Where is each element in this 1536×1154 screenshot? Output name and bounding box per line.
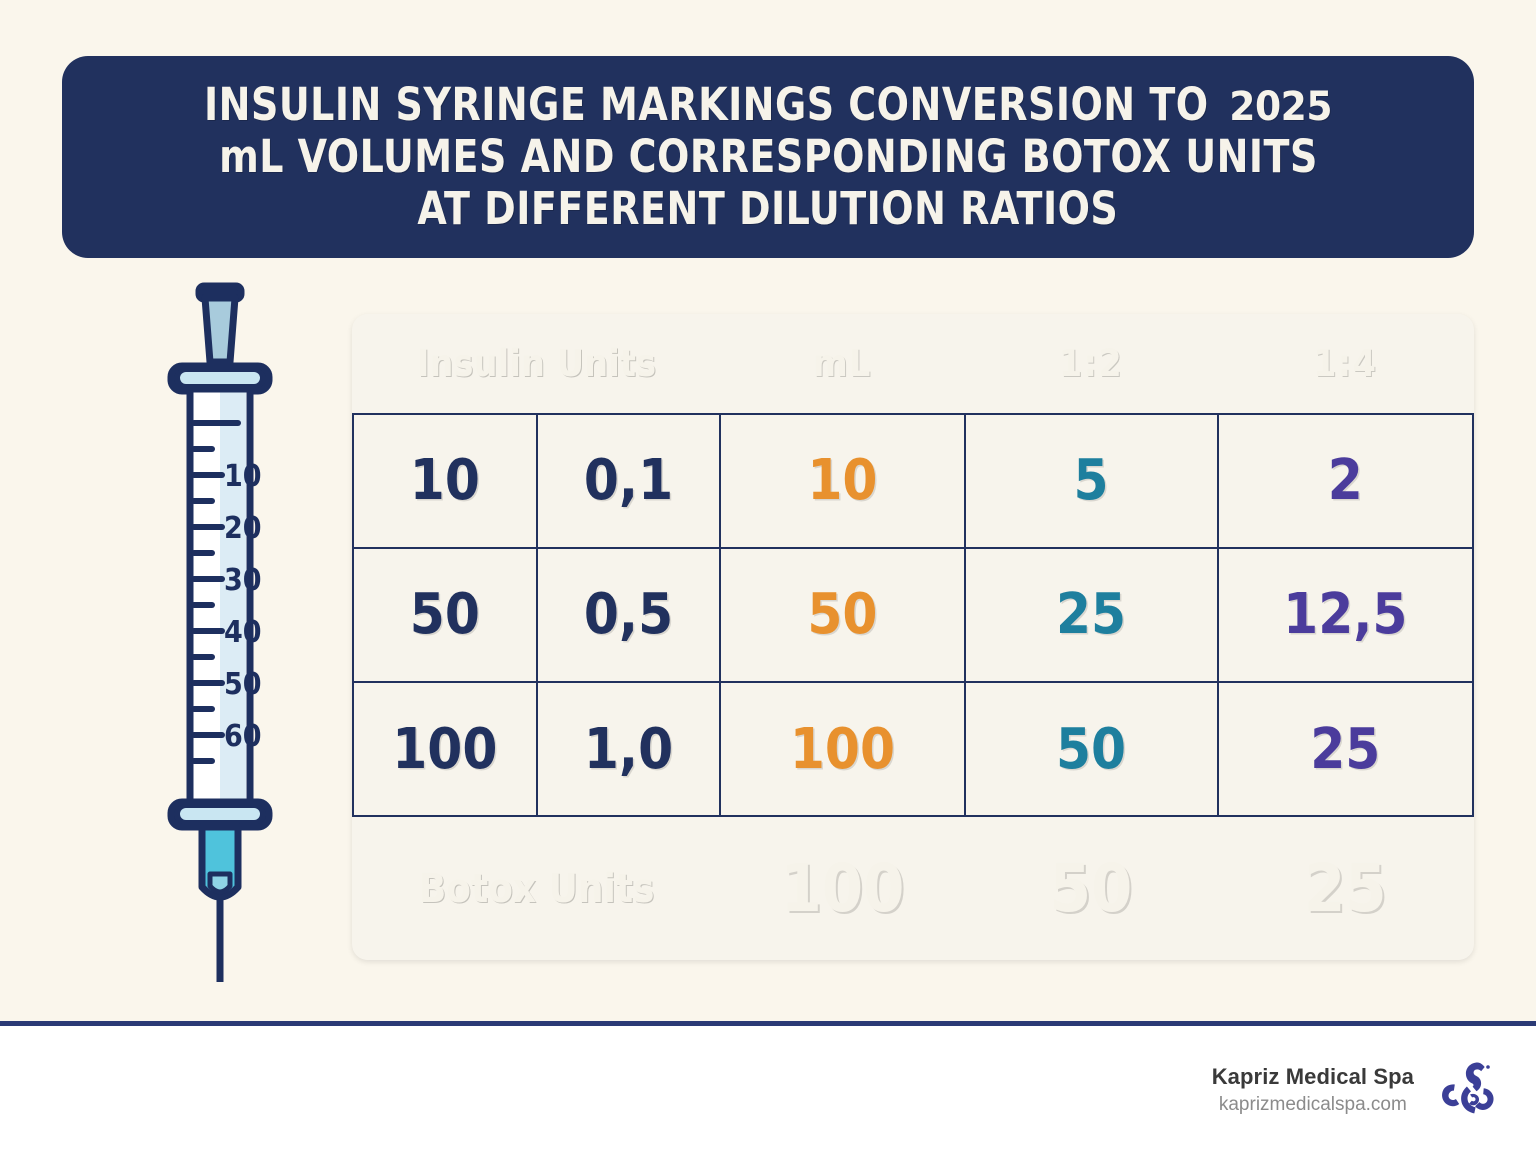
footer-value-ml: 100: [780, 850, 904, 927]
title-line-2: mL VOLUMES AND CORRESPONDING BOTOX UNITS: [219, 131, 1318, 183]
conversion-table: Insulin Units mL 1:2 1:4 10 0,1 10 5 2 5…: [352, 314, 1474, 960]
footer-value-1-4: 25: [1304, 850, 1387, 927]
title-banner: INSULIN SYRINGE MARKINGS CONVERSION TO20…: [62, 56, 1474, 258]
syringe-tick-label-40: 40: [224, 615, 262, 650]
value-ml-volume: 0,1: [584, 448, 673, 513]
header-ml-label: mL: [813, 342, 872, 385]
table-row: 100 1,0 100 50 25: [353, 682, 1473, 816]
table-footer-row: Botox Units 100 50 25: [353, 816, 1473, 960]
cell-ml-volume: 0,5: [537, 548, 721, 682]
syringe-tick-label-20: 20: [224, 511, 262, 546]
cell-dilution-1-4: 2: [1218, 414, 1473, 548]
syringe-illustration: 10 20 30 40 50 60: [150, 282, 290, 982]
value-dilution-1-2: 25: [1056, 582, 1126, 647]
header-ratio-1-2-label: 1:2: [1059, 342, 1123, 385]
kapriz-logo-icon: [1436, 1058, 1500, 1122]
cell-ml-units: 100: [720, 682, 964, 816]
title-year: 2025: [1229, 84, 1332, 130]
cell-dilution-1-4: 25: [1218, 682, 1473, 816]
syringe-tick-label-30: 30: [224, 563, 262, 598]
cell-ml-units: 50: [720, 548, 964, 682]
cell-ml-units: 10: [720, 414, 964, 548]
footer-text-block: Kapriz Medical Spa kaprizmedicalspa.com: [1212, 1062, 1414, 1117]
value-dilution-1-4: 2: [1328, 448, 1363, 513]
brand-website: kaprizmedicalspa.com: [1212, 1092, 1414, 1118]
value-units: 50: [410, 582, 480, 647]
cell-dilution-1-2: 25: [965, 548, 1218, 682]
header-ml: mL: [720, 314, 964, 414]
value-ml-units: 100: [790, 717, 895, 782]
cell-dilution-1-4: 12,5: [1218, 548, 1473, 682]
cell-dilution-1-2: 5: [965, 414, 1218, 548]
syringe-tick-label-10: 10: [224, 459, 262, 494]
value-ml-units: 50: [807, 582, 877, 647]
value-ml-volume: 1,0: [584, 717, 673, 782]
footer-value-1-2: 50: [1050, 850, 1133, 927]
syringe-tick-label-50: 50: [224, 667, 262, 702]
footer-botox-units-1-2: 50: [965, 816, 1218, 960]
table-row: 50 0,5 50 25 12,5: [353, 548, 1473, 682]
cell-dilution-1-2: 50: [965, 682, 1218, 816]
cell-ml-volume: 0,1: [537, 414, 721, 548]
header-ratio-1-4-label: 1:4: [1313, 342, 1377, 385]
title-line-1: INSULIN SYRINGE MARKINGS CONVERSION TO20…: [204, 79, 1332, 131]
value-dilution-1-4: 12,5: [1283, 582, 1407, 647]
cell-ml-volume: 1,0: [537, 682, 721, 816]
value-dilution-1-2: 50: [1056, 717, 1126, 782]
table-row: 10 0,1 10 5 2: [353, 414, 1473, 548]
header-ratio-1-2: 1:2: [965, 314, 1218, 414]
cell-units: 10: [353, 414, 537, 548]
syringe-svg: 10 20 30 40 50 60: [150, 282, 290, 982]
footer-botox-units-ml: 100: [720, 816, 964, 960]
cell-units: 50: [353, 548, 537, 682]
infographic-poster: INSULIN SYRINGE MARKINGS CONVERSION TO20…: [0, 0, 1536, 1154]
title-line-3: AT DIFFERENT DILUTION RATIOS: [418, 183, 1119, 235]
title-text-1: INSULIN SYRINGE MARKINGS CONVERSION TO: [204, 78, 1209, 131]
value-dilution-1-4: 25: [1310, 717, 1380, 782]
value-units: 100: [392, 717, 497, 782]
value-ml-units: 10: [807, 448, 877, 513]
brand-name: Kapriz Medical Spa: [1212, 1062, 1414, 1092]
syringe-tick-label-60: 60: [224, 719, 262, 754]
header-insulin-units: Insulin Units: [353, 314, 720, 414]
conversion-table-container: Insulin Units mL 1:2 1:4 10 0,1 10 5 2 5…: [352, 314, 1474, 960]
table-header-row: Insulin Units mL 1:2 1:4: [353, 314, 1473, 414]
value-ml-volume: 0,5: [584, 582, 673, 647]
cell-units: 100: [353, 682, 537, 816]
header-ratio-1-4: 1:4: [1218, 314, 1473, 414]
footer-botox-units-label: Botox Units: [353, 816, 720, 960]
value-units: 10: [410, 448, 480, 513]
value-dilution-1-2: 5: [1074, 448, 1109, 513]
footer-botox-units-1-4: 25: [1218, 816, 1473, 960]
page-footer: Kapriz Medical Spa kaprizmedicalspa.com: [0, 1026, 1536, 1154]
